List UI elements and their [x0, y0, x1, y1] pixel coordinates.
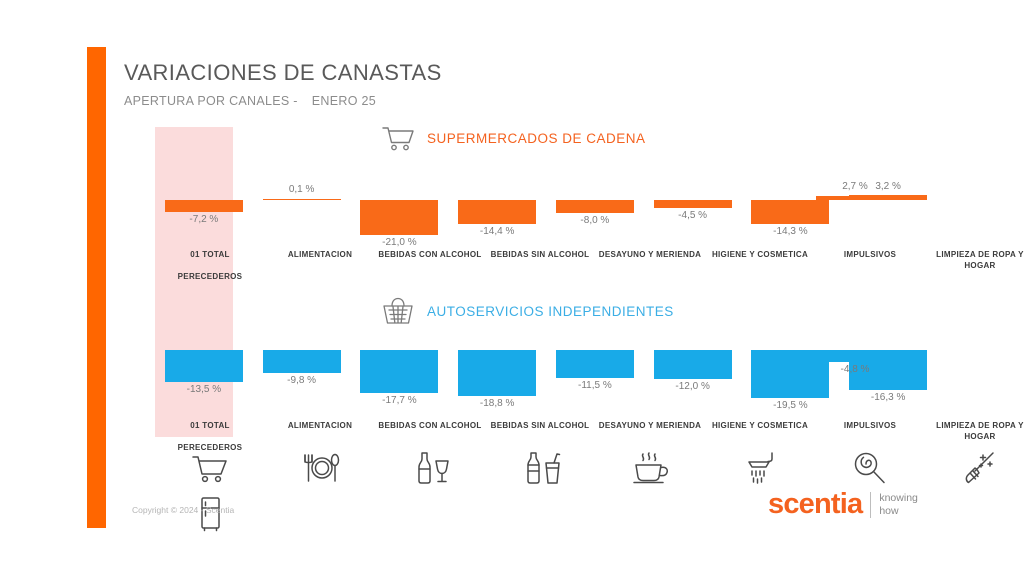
plate-cutlery-icon: [265, 445, 375, 491]
slide-canvas: VARIACIONES DE CANASTAS APERTURA POR CAN…: [0, 0, 1024, 576]
category-label-impulsivos-blue: IMPULSIVOS: [815, 421, 925, 443]
bar-value-bebidas-con-alcohol-orange: -21,0 %: [351, 237, 449, 248]
bar-bebidas-con-alcohol-blue[interactable]: [360, 350, 438, 393]
category-label-alimentacion-orange: ALIMENTACION: [265, 250, 375, 272]
scentia-logo: scentia knowing how: [768, 490, 918, 519]
category-label-higiene-orange: HIGIENE Y COSMETICA: [705, 250, 815, 272]
bar-bebidas-sin-alcohol-blue[interactable]: [458, 350, 536, 396]
copyright-text: Copyright © 2024 - Scentia: [132, 505, 234, 515]
category-label-alimentacion-blue: ALIMENTACION: [265, 421, 375, 443]
header: VARIACIONES DE CANASTAS APERTURA POR CAN…: [124, 60, 442, 108]
category-label-bebidas-con-alcohol-orange: BEBIDAS CON ALCOHOL: [375, 250, 485, 272]
bar-value-bebidas-con-alcohol-blue: -17,7 %: [351, 395, 449, 406]
shower-icon: [705, 445, 815, 491]
bar-desayuno-orange[interactable]: [556, 200, 634, 213]
category-label-total-orange: 01 TOTAL: [155, 250, 265, 272]
bar-value-higiene-orange: -4,5 %: [644, 210, 742, 221]
bar-higiene-orange[interactable]: [654, 200, 732, 208]
bar-group-total-blue: -13,5 %: [155, 299, 253, 417]
bar-value-total-blue: -13,5 %: [155, 384, 253, 395]
bar-group-total-orange: -7,2 %: [155, 127, 253, 245]
bar-value-higiene-blue: -12,0 %: [644, 381, 742, 392]
bar-higiene-blue[interactable]: [654, 350, 732, 379]
page-subtitle: APERTURA POR CANALES -ENERO 25: [124, 94, 442, 108]
bar-group-bebidas-sin-alcohol-orange: -14,4 %: [448, 127, 546, 245]
bar-value-perecederos-orange: 2,7 %: [806, 181, 904, 192]
shopping-cart-icon: [155, 445, 265, 491]
bar-group-perecederos-blue: -4,8 %: [806, 299, 904, 417]
category-label-limpieza-orange: LIMPIEZA DE ROPA Y HOGAR: [925, 250, 1024, 272]
bar-desayuno-blue[interactable]: [556, 350, 634, 378]
category-label-perecederos-orange: PERECEDEROS: [155, 272, 265, 283]
coffee-cup-icon: [595, 445, 705, 491]
bar-bebidas-sin-alcohol-orange[interactable]: [458, 200, 536, 224]
bottle-softdrink-icon: [485, 445, 595, 491]
bar-total-blue[interactable]: [165, 350, 243, 382]
bar-value-bebidas-sin-alcohol-orange: -14,4 %: [448, 226, 546, 237]
category-label-limpieza-blue: LIMPIEZA DE ROPA Y HOGAR: [925, 421, 1024, 443]
bar-group-bebidas-con-alcohol-blue: -17,7 %: [351, 299, 449, 417]
category-labels-supermercados: 01 TOTAL ALIMENTACION BEBIDAS CON ALCOHO…: [155, 250, 1024, 282]
bar-bebidas-con-alcohol-orange[interactable]: [360, 200, 438, 235]
bar-value-total-orange: -7,2 %: [155, 214, 253, 225]
category-label-bebidas-sin-alcohol-orange: BEBIDAS SIN ALCOHOL: [485, 250, 595, 272]
bar-value-desayuno-orange: -8,0 %: [546, 215, 644, 226]
bar-group-perecederos-orange: 2,7 %: [806, 127, 904, 245]
category-label-higiene-blue: HIGIENE Y COSMETICA: [705, 421, 815, 443]
subtitle-prefix: APERTURA POR CANALES -: [124, 94, 298, 108]
logo-tagline-line2: how: [879, 505, 898, 517]
bar-perecederos-blue[interactable]: [816, 350, 894, 362]
bar-value-alimentacion-blue: -9,8 %: [253, 375, 351, 386]
category-label-bebidas-sin-alcohol-blue: BEBIDAS SIN ALCOHOL: [485, 421, 595, 443]
bar-value-alimentacion-orange: 0,1 %: [253, 184, 351, 195]
logo-tagline-line1: knowing: [879, 492, 918, 504]
bar-group-higiene-blue: -12,0 %: [644, 299, 742, 417]
bar-value-perecederos-blue: -4,8 %: [806, 364, 904, 375]
bar-group-bebidas-sin-alcohol-blue: -18,8 %: [448, 299, 546, 417]
bar-value-bebidas-sin-alcohol-blue: -18,8 %: [448, 398, 546, 409]
category-label-total-blue: 01 TOTAL: [155, 421, 265, 443]
bar-value-desayuno-blue: -11,5 %: [546, 380, 644, 391]
logo-tagline: knowing how: [879, 492, 918, 517]
category-label-impulsivos-orange: IMPULSIVOS: [815, 250, 925, 272]
bar-group-desayuno-orange: -8,0 %: [546, 127, 644, 245]
bar-group-desayuno-blue: -11,5 %: [546, 299, 644, 417]
bar-group-bebidas-con-alcohol-orange: -21,0 %: [351, 127, 449, 245]
page-title: VARIACIONES DE CANASTAS: [124, 60, 442, 86]
bar-group-alimentacion-orange: 0,1 %: [253, 127, 351, 245]
lollipop-icon: [815, 445, 925, 491]
subtitle-period: ENERO 25: [312, 94, 376, 108]
logo-divider: [870, 492, 871, 518]
category-label-desayuno-blue: DESAYUNO Y MERIENDA: [595, 421, 705, 443]
bar-group-higiene-orange: -4,5 %: [644, 127, 742, 245]
bar-perecederos-orange[interactable]: [816, 196, 894, 200]
bar-alimentacion-blue[interactable]: [263, 350, 341, 373]
category-label-desayuno-orange: DESAYUNO Y MERIENDA: [595, 250, 705, 272]
bar-total-orange[interactable]: [165, 200, 243, 212]
category-label-bebidas-con-alcohol-blue: BEBIDAS CON ALCOHOL: [375, 421, 485, 443]
bar-alimentacion-orange[interactable]: [263, 199, 341, 201]
broom-icon: [925, 445, 1024, 491]
bottle-wineglass-icon: [375, 445, 485, 491]
logo-wordmark: scentia: [768, 490, 862, 519]
left-accent-bar: [87, 47, 106, 528]
bar-group-alimentacion-blue: -9,8 %: [253, 299, 351, 417]
